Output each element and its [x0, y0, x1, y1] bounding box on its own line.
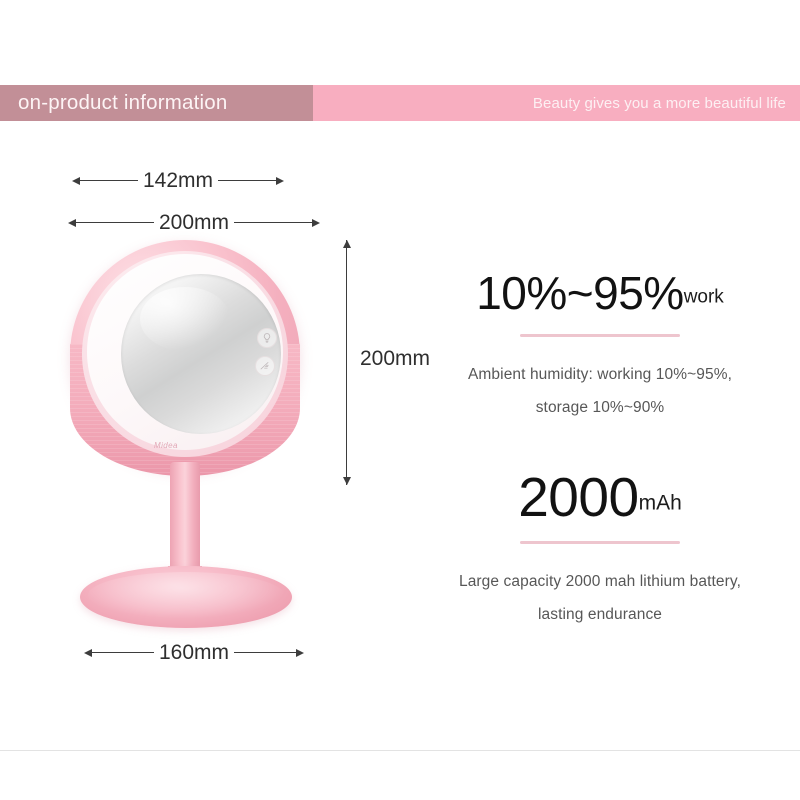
spec-humidity-divider [520, 334, 680, 337]
dimension-base-width-label: 160mm [154, 642, 234, 663]
product-information-page: on-product information Beauty gives you … [0, 0, 800, 800]
arrow-right-icon [296, 649, 304, 657]
dimension-line [218, 180, 276, 181]
arrow-left-icon [84, 649, 92, 657]
spec-battery-headline: 2000mAh [400, 470, 800, 525]
mirror-stem [170, 462, 200, 582]
spec-humidity-description-line: storage 10%~90% [400, 392, 800, 425]
spec-humidity: 10%~95%work Ambient humidity: working 10… [400, 270, 800, 424]
spec-battery: 2000mAh Large capacity 2000 mah lithium … [400, 470, 800, 631]
page-title: on-product information [18, 91, 228, 115]
spec-battery-description: Large capacity 2000 mah lithium battery,… [400, 566, 800, 631]
header-tagline: Beauty gives you a more beautiful life [533, 95, 786, 112]
light-bulb-icon [261, 332, 273, 344]
arrow-right-icon [276, 177, 284, 185]
header-title-block: on-product information [0, 85, 313, 121]
product-diagram-panel: 142mm 200mm 200mm [0, 130, 410, 690]
spec-battery-description-line: lasting endurance [400, 599, 800, 632]
product-image: Midea [60, 240, 320, 640]
dimension-line [234, 652, 296, 653]
header-bar: on-product information Beauty gives you … [0, 85, 800, 121]
dimension-line [76, 222, 154, 223]
arrow-left-icon [68, 219, 76, 227]
arrow-right-icon [312, 219, 320, 227]
spec-humidity-description: Ambient humidity: working 10%~95%, stora… [400, 359, 800, 424]
dimension-line [92, 652, 154, 653]
fan-icon [259, 360, 271, 372]
dimension-body-width: 200mm [68, 212, 320, 233]
dimension-line [346, 240, 347, 485]
footer-divider [0, 750, 800, 751]
spec-humidity-value: 10%~95% [476, 267, 684, 319]
mirror-face-plate [87, 254, 283, 450]
dimension-mirror-width: 142mm [72, 170, 284, 191]
mirror-base [80, 566, 292, 628]
arrow-down-icon [343, 477, 351, 485]
header-tagline-block: Beauty gives you a more beautiful life [313, 85, 800, 121]
spec-humidity-headline: 10%~95%work [400, 270, 800, 316]
spec-battery-description-line: Large capacity 2000 mah lithium battery, [400, 566, 800, 599]
spec-battery-unit: mAh [639, 492, 682, 515]
mirror-glass [121, 274, 281, 434]
dimension-mirror-width-label: 142mm [138, 170, 218, 191]
spec-panel: 10%~95%work Ambient humidity: working 10… [400, 270, 800, 690]
dimension-line [234, 222, 312, 223]
spec-battery-value: 2000 [518, 466, 638, 528]
spec-humidity-description-line: Ambient humidity: working 10%~95%, [400, 359, 800, 392]
arrow-left-icon [72, 177, 80, 185]
spec-battery-divider [520, 541, 680, 544]
light-button[interactable] [257, 328, 277, 348]
brand-mark: Midea [154, 441, 178, 450]
dimension-line [80, 180, 138, 181]
spec-humidity-unit: work [684, 287, 724, 308]
fan-button[interactable] [255, 356, 275, 376]
dimension-body-width-label: 200mm [154, 212, 234, 233]
dimension-base-width: 160mm [84, 642, 304, 663]
